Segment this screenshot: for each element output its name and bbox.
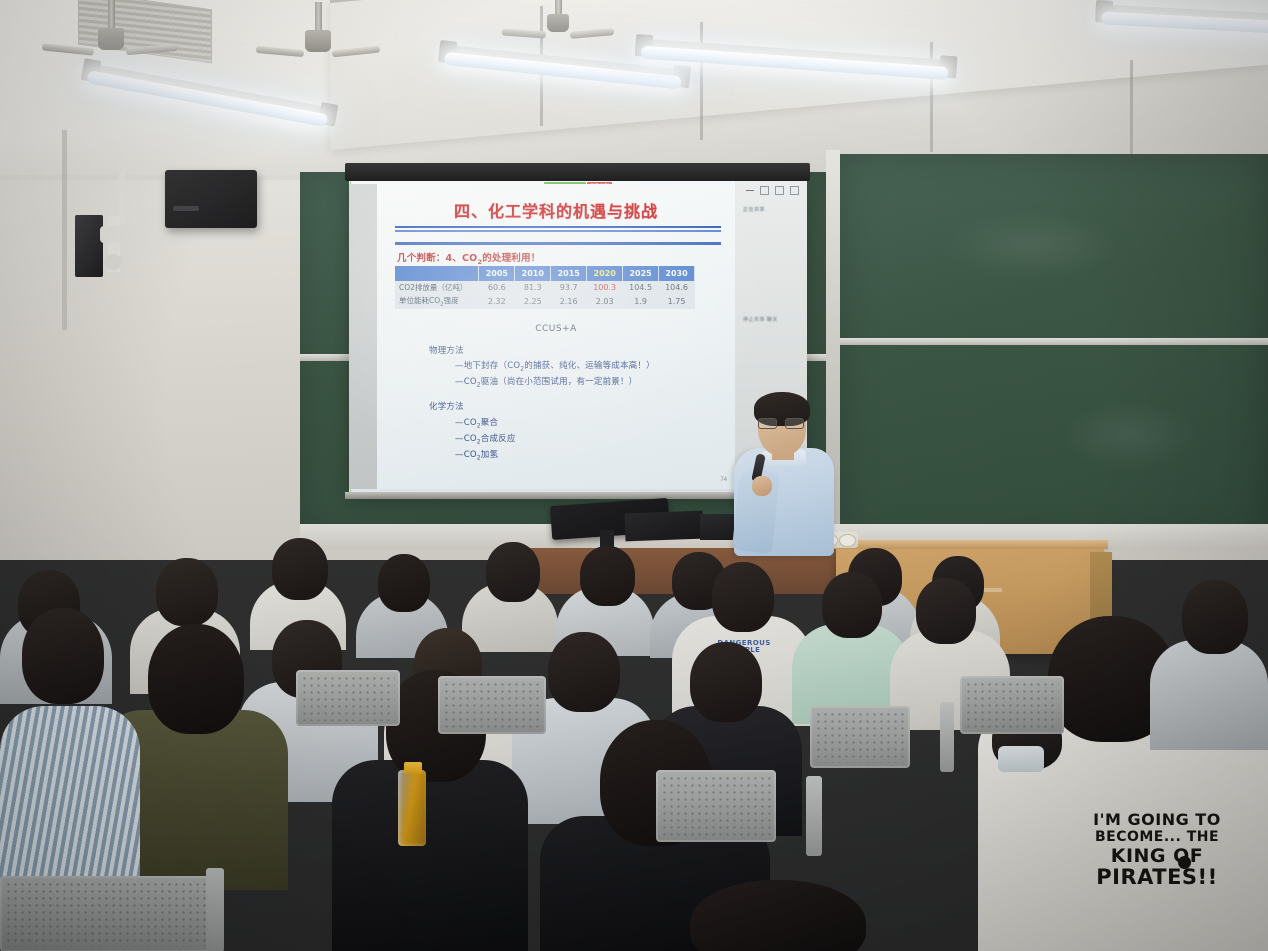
seat-rail xyxy=(806,776,822,856)
seat-rail xyxy=(206,868,224,951)
table-row-emissions: CO2排放量（亿吨） 60.6 81.3 93.7 100.3 104.5 10… xyxy=(395,281,695,294)
slide-left-margin xyxy=(349,184,377,489)
chem1-pre: —CO xyxy=(455,418,477,428)
section-chemical-item-2: —CO2合成反应 xyxy=(455,432,516,446)
cell-intensity-2030: 1.75 xyxy=(659,294,695,309)
share-status-label: 正在共享 xyxy=(743,206,765,213)
cell-emissions-2025: 104.5 xyxy=(623,281,659,294)
ceiling-fan xyxy=(286,2,350,58)
auditorium-seat xyxy=(438,676,546,734)
wall-speaker xyxy=(165,170,257,228)
section-heading-chemical: 化学方法 xyxy=(429,400,464,412)
title-rule-lower xyxy=(395,242,721,245)
auditorium-seat xyxy=(960,676,1064,734)
table-header-row: 2005 2010 2015 2020 2025 2030 xyxy=(395,266,695,281)
auditorium-seat xyxy=(0,876,216,951)
section-heading-physical: 物理方法 xyxy=(429,344,464,356)
bottle-cap-icon xyxy=(404,762,422,774)
cell-emissions-2015: 93.7 xyxy=(551,281,587,294)
camera-dome-icon xyxy=(104,254,122,270)
row-label-emissions: CO2排放量（亿吨） xyxy=(395,281,479,294)
cell-intensity-2010: 2.25 xyxy=(515,294,551,309)
maximize-icon[interactable] xyxy=(775,186,784,195)
skull-icon xyxy=(1178,856,1191,869)
chem2-post: 合成反应 xyxy=(481,434,516,444)
section-physical-item-2: —CO2驱油（尚在小范围试用，有一定前景！） xyxy=(455,375,637,389)
student-head xyxy=(822,572,882,638)
projection-screen-case xyxy=(345,163,810,181)
intensity-pre: 单位能耗CO xyxy=(399,296,440,305)
section-physical-item-1: —地下封存（CO2的捕获、纯化、运输等成本高！） xyxy=(455,359,655,373)
security-camera-icon xyxy=(100,226,127,243)
minimize-icon[interactable] xyxy=(746,190,754,192)
window-controls[interactable] xyxy=(746,186,799,195)
phys1-post: 的捕获、纯化、运输等成本高！） xyxy=(524,361,655,371)
lecturer-hand xyxy=(752,476,772,496)
phys2-pre: —CO xyxy=(455,377,477,387)
student-torso xyxy=(1150,640,1268,750)
student-torso xyxy=(0,706,140,896)
chem1-post: 聚合 xyxy=(481,418,498,428)
slide-title: 四、化工学科的机遇与挑战 xyxy=(377,198,735,222)
table-header-2030: 2030 xyxy=(659,266,695,281)
co2-data-table: 2005 2010 2015 2020 2025 2030 CO2排放量（亿吨）… xyxy=(395,266,695,309)
student-head xyxy=(712,562,774,632)
glasses-icon xyxy=(758,418,804,427)
tshirt-pirate-king: I'M GOING TO BECOME... THE KING OF PIRAT… xyxy=(1062,812,1252,888)
title-rule-secondary xyxy=(395,230,721,232)
table-header-2010: 2010 xyxy=(515,266,551,281)
wall-speaker xyxy=(75,215,103,277)
wall-conduit xyxy=(62,130,67,330)
student-head xyxy=(690,642,762,722)
phys1-pre: —地下封存（CO xyxy=(455,361,520,371)
table-header-2020: 2020 xyxy=(587,266,623,281)
table-header-2005: 2005 xyxy=(479,266,515,281)
camera-pipe xyxy=(118,155,125,225)
table-header-blank xyxy=(395,266,479,281)
chem2-pre: —CO xyxy=(455,434,477,444)
ceiling-fan xyxy=(76,0,146,58)
cell-emissions-2030: 104.6 xyxy=(659,281,695,294)
chem3-pre: —CO xyxy=(455,450,477,460)
share-actions-label: 停止共享 聊天 xyxy=(743,316,778,323)
student-head xyxy=(272,538,328,600)
auditorium-seat xyxy=(296,670,400,726)
tshirt-line: BECOME... THE xyxy=(1062,830,1252,844)
table-header-2015: 2015 xyxy=(551,266,587,281)
ceiling-fan xyxy=(528,0,588,44)
cell-emissions-2005: 60.6 xyxy=(479,281,515,294)
student-head xyxy=(548,632,620,712)
student-head xyxy=(22,608,104,704)
table-row-intensity: 单位能耗CO2强度 2.32 2.25 2.16 2.03 1.9 1.75 xyxy=(395,294,695,309)
slide-subtitle: 几个判断：4、CO2的处理利用！ xyxy=(397,250,540,266)
student-head xyxy=(916,578,976,644)
tshirt-line: PIRATES!! xyxy=(1062,867,1252,888)
chem3-post: 加氢 xyxy=(481,450,498,460)
student-head xyxy=(690,880,866,951)
cell-emissions-2020: 100.3 xyxy=(587,281,623,294)
beverage-bottle xyxy=(398,770,426,846)
cell-emissions-2010: 81.3 xyxy=(515,281,551,294)
lecture-hall-photo: 上海交通大学 正在录制 四、化工学科的机遇与挑战 几个判断：4、CO2的处理利用… xyxy=(0,0,1268,951)
section-chemical-item-1: —CO2聚合 xyxy=(455,416,498,430)
soffit-divider xyxy=(1130,60,1133,160)
section-chemical-item-3: —CO2加氢 xyxy=(455,448,498,462)
ccus-label: CCUS+A xyxy=(377,324,735,334)
cell-intensity-2025: 1.9 xyxy=(623,294,659,309)
tshirt-line: KING OF xyxy=(1062,847,1252,866)
auditorium-seat xyxy=(810,706,910,768)
subtitle-pre: 几个判断：4、CO xyxy=(397,253,477,264)
phys2-post: 驱油（尚在小范围试用，有一定前景！） xyxy=(481,377,638,387)
seat-rail xyxy=(940,702,954,772)
cell-intensity-2015: 2.16 xyxy=(551,294,587,309)
face-mask-icon xyxy=(998,746,1044,772)
cell-intensity-2020: 2.03 xyxy=(587,294,623,309)
cell-intensity-2005: 2.32 xyxy=(479,294,515,309)
title-rule xyxy=(395,226,721,228)
student-head xyxy=(148,624,244,734)
student-head xyxy=(486,542,540,602)
audience: DANGEROUS PEOPLE xyxy=(0,520,1268,951)
close-icon[interactable] xyxy=(790,186,799,195)
student-head xyxy=(580,546,635,606)
table-header-2025: 2025 xyxy=(623,266,659,281)
row-label-intensity: 单位能耗CO2强度 xyxy=(395,294,479,309)
subtitle-post: 的处理利用！ xyxy=(482,253,540,264)
student-head xyxy=(156,558,218,626)
student-head xyxy=(1182,580,1248,654)
student-torso xyxy=(332,760,528,951)
tshirt-line: I'M GOING TO xyxy=(1062,812,1252,828)
intensity-post: 强度 xyxy=(444,296,459,305)
restore-icon[interactable] xyxy=(760,186,769,195)
auditorium-seat xyxy=(656,770,776,842)
slide-canvas: 四、化工学科的机遇与挑战 几个判断：4、CO2的处理利用！ 2005 2010 … xyxy=(377,184,735,489)
student-head xyxy=(378,554,430,612)
soffit-divider xyxy=(700,22,703,140)
